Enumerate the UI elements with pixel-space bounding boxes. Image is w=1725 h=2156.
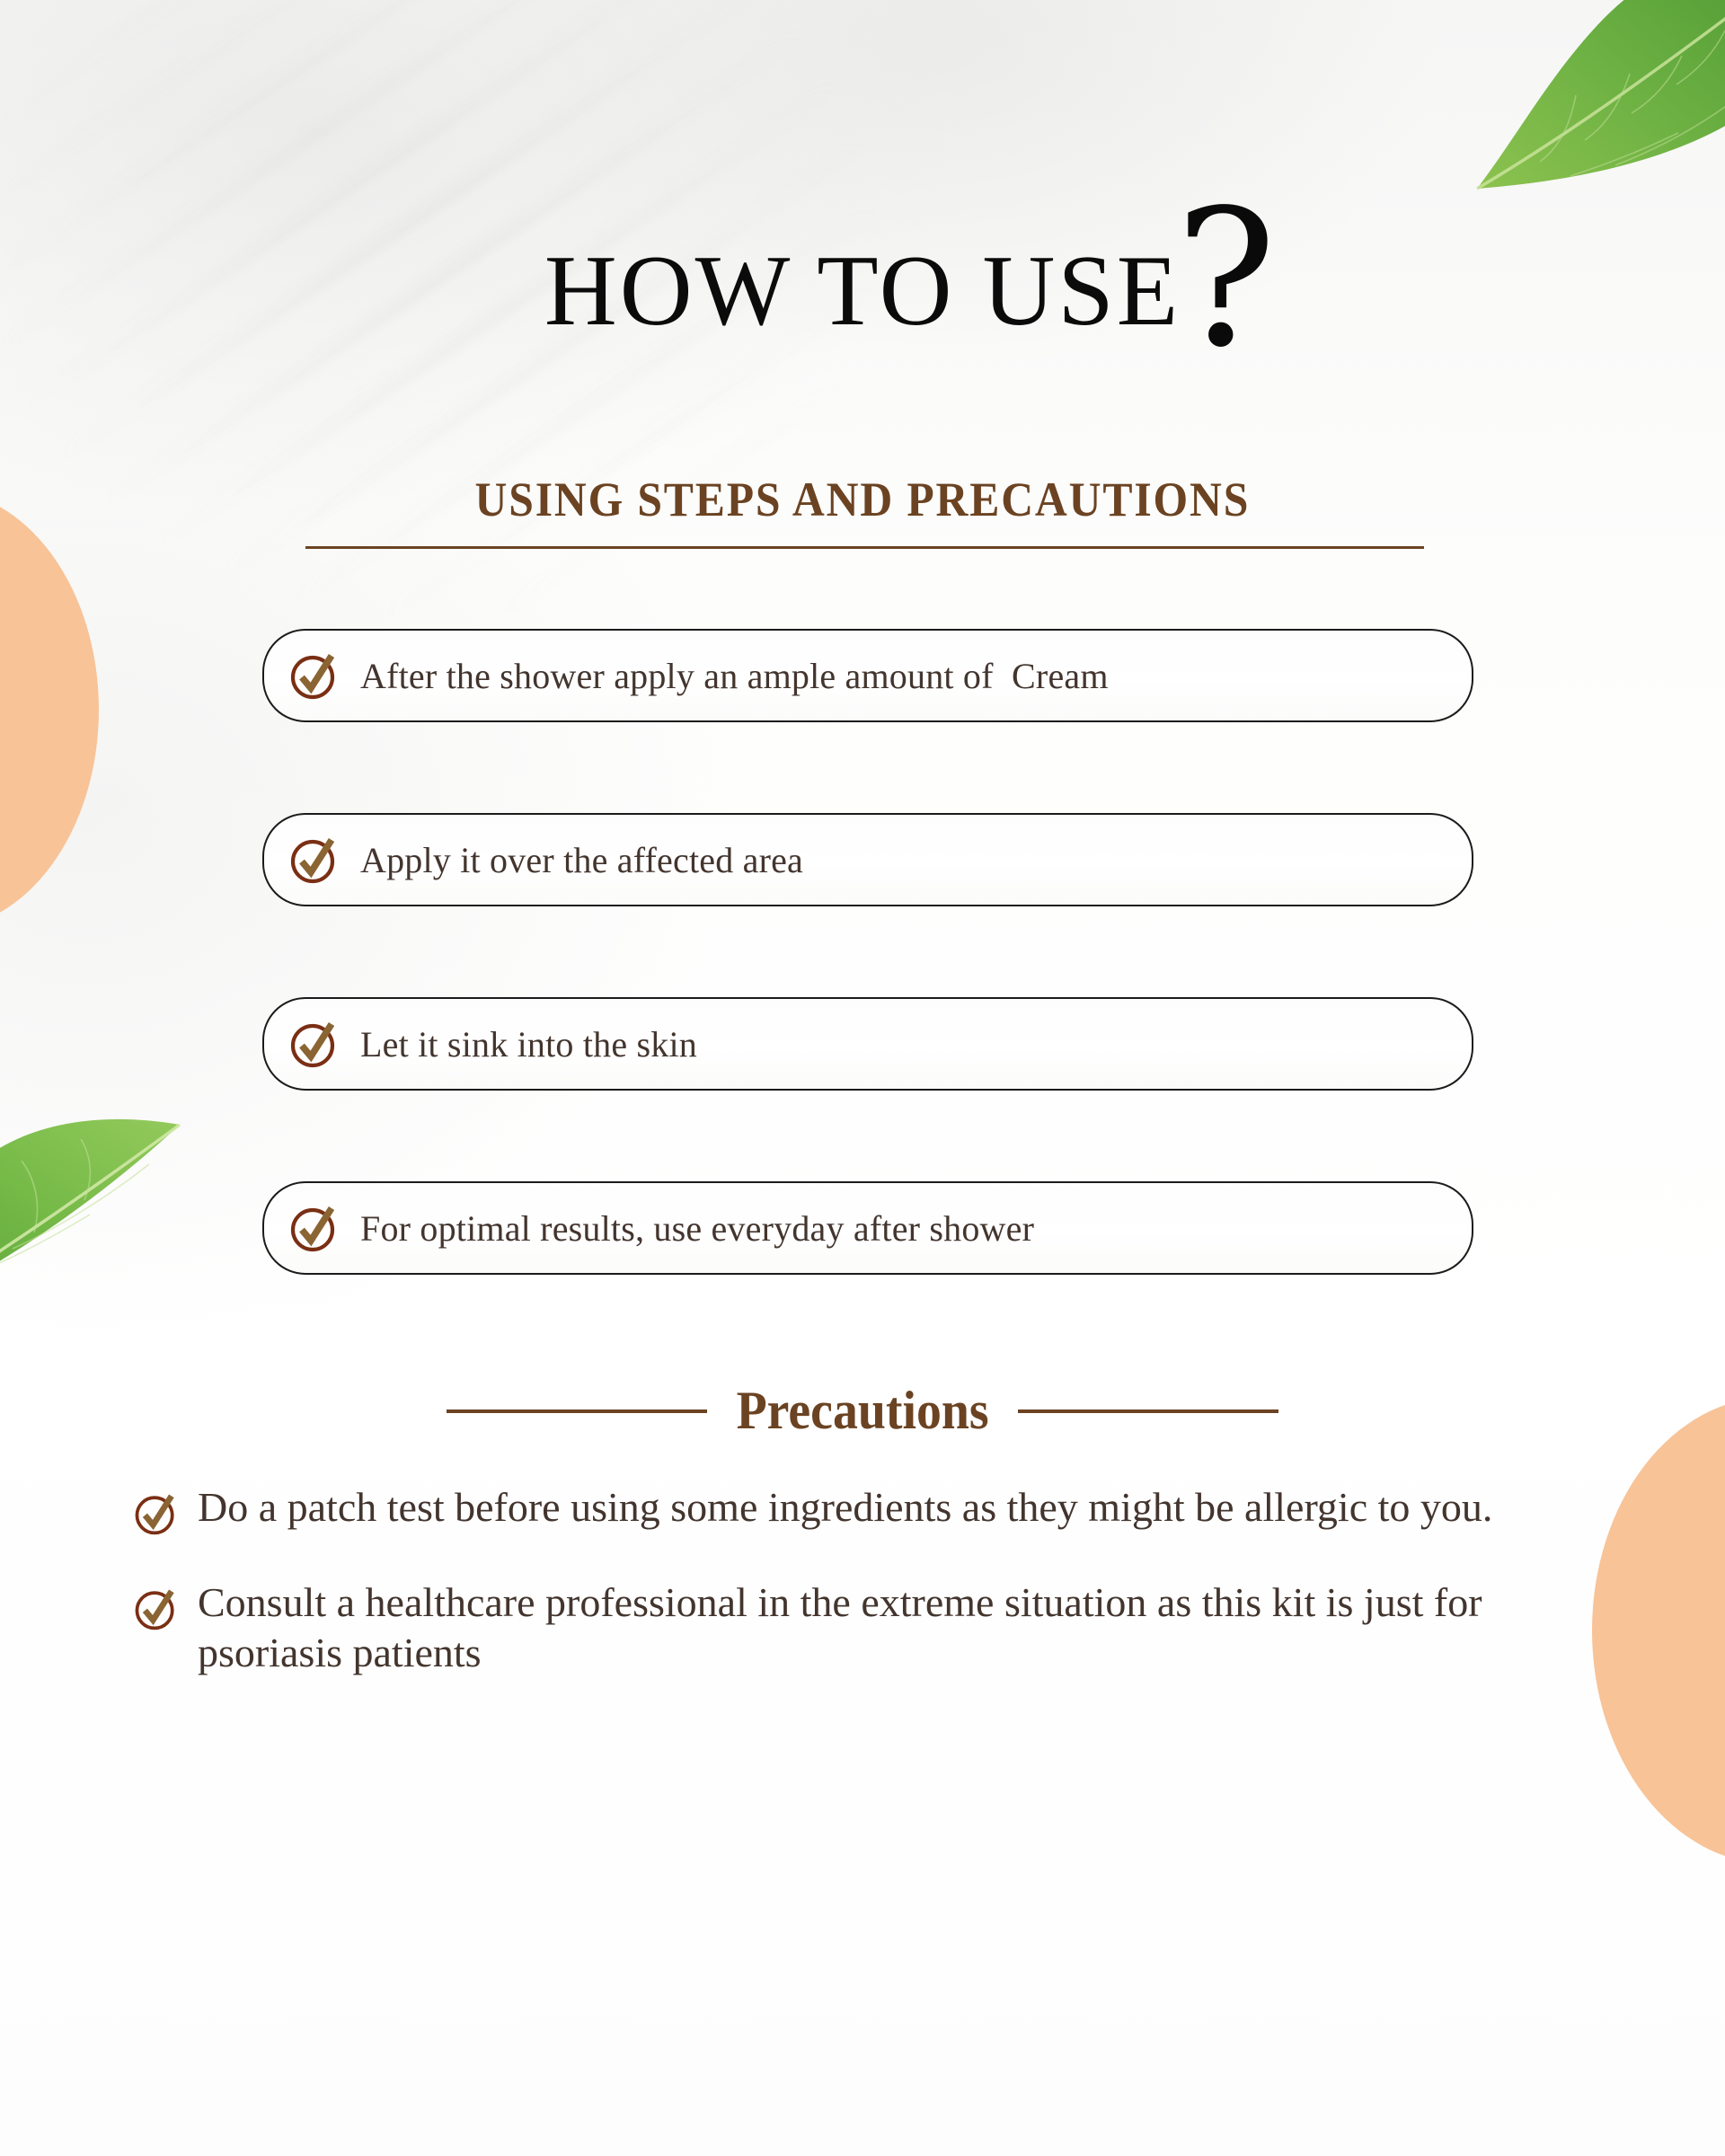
page-subtitle: USING STEPS AND PRECAUTIONS — [475, 472, 1251, 527]
check-circle-icon — [288, 835, 339, 885]
page-title-text: HOW TO USE — [544, 235, 1181, 347]
check-circle-icon — [288, 1203, 339, 1253]
precautions-heading: Precautions — [0, 1380, 1725, 1442]
precautions-list: Do a patch test before using some ingred… — [133, 1482, 1535, 1678]
step-item[interactable]: After the shower apply an ample amount o… — [262, 629, 1473, 722]
step-label: Apply it over the affected area — [360, 839, 803, 881]
page-title: HOW TO USE? — [544, 241, 1181, 341]
precautions-rule-right — [1018, 1409, 1278, 1413]
step-label: Let it sink into the skin — [360, 1023, 697, 1065]
leaf-icon-bottom-left — [0, 1105, 201, 1312]
precautions-title: Precautions — [736, 1380, 988, 1442]
steps-list: After the shower apply an ample amount o… — [262, 629, 1473, 1275]
check-circle-icon — [288, 1019, 339, 1069]
peach-circle-right — [1592, 1397, 1725, 1864]
check-circle-icon — [133, 1586, 178, 1631]
check-circle-icon — [133, 1491, 178, 1536]
subtitle-container: USING STEPS AND PRECAUTIONS — [0, 472, 1725, 527]
precaution-item[interactable]: Do a patch test before using some ingred… — [133, 1482, 1535, 1536]
step-label: After the shower apply an ample amount o… — [360, 655, 1109, 697]
question-mark-glyph: ? — [1175, 185, 1279, 374]
precaution-label: Do a patch test before using some ingred… — [198, 1482, 1492, 1533]
leaf-icon-top-right — [1463, 0, 1725, 194]
precaution-item[interactable]: Consult a healthcare professional in the… — [133, 1577, 1535, 1678]
step-item[interactable]: Apply it over the affected area — [262, 813, 1473, 906]
step-item[interactable]: For optimal results, use everyday after … — [262, 1181, 1473, 1275]
check-circle-icon — [288, 650, 339, 701]
step-label: For optimal results, use everyday after … — [360, 1207, 1034, 1250]
precautions-rule-left — [447, 1409, 707, 1413]
peach-circle-left — [0, 490, 99, 930]
header: HOW TO USE? — [0, 241, 1725, 341]
poster-canvas: HOW TO USE? USING STEPS AND PRECAUTIONS … — [0, 0, 1725, 2156]
step-item[interactable]: Let it sink into the skin — [262, 997, 1473, 1091]
precaution-label: Consult a healthcare professional in the… — [198, 1577, 1535, 1678]
subtitle-divider — [305, 546, 1424, 549]
